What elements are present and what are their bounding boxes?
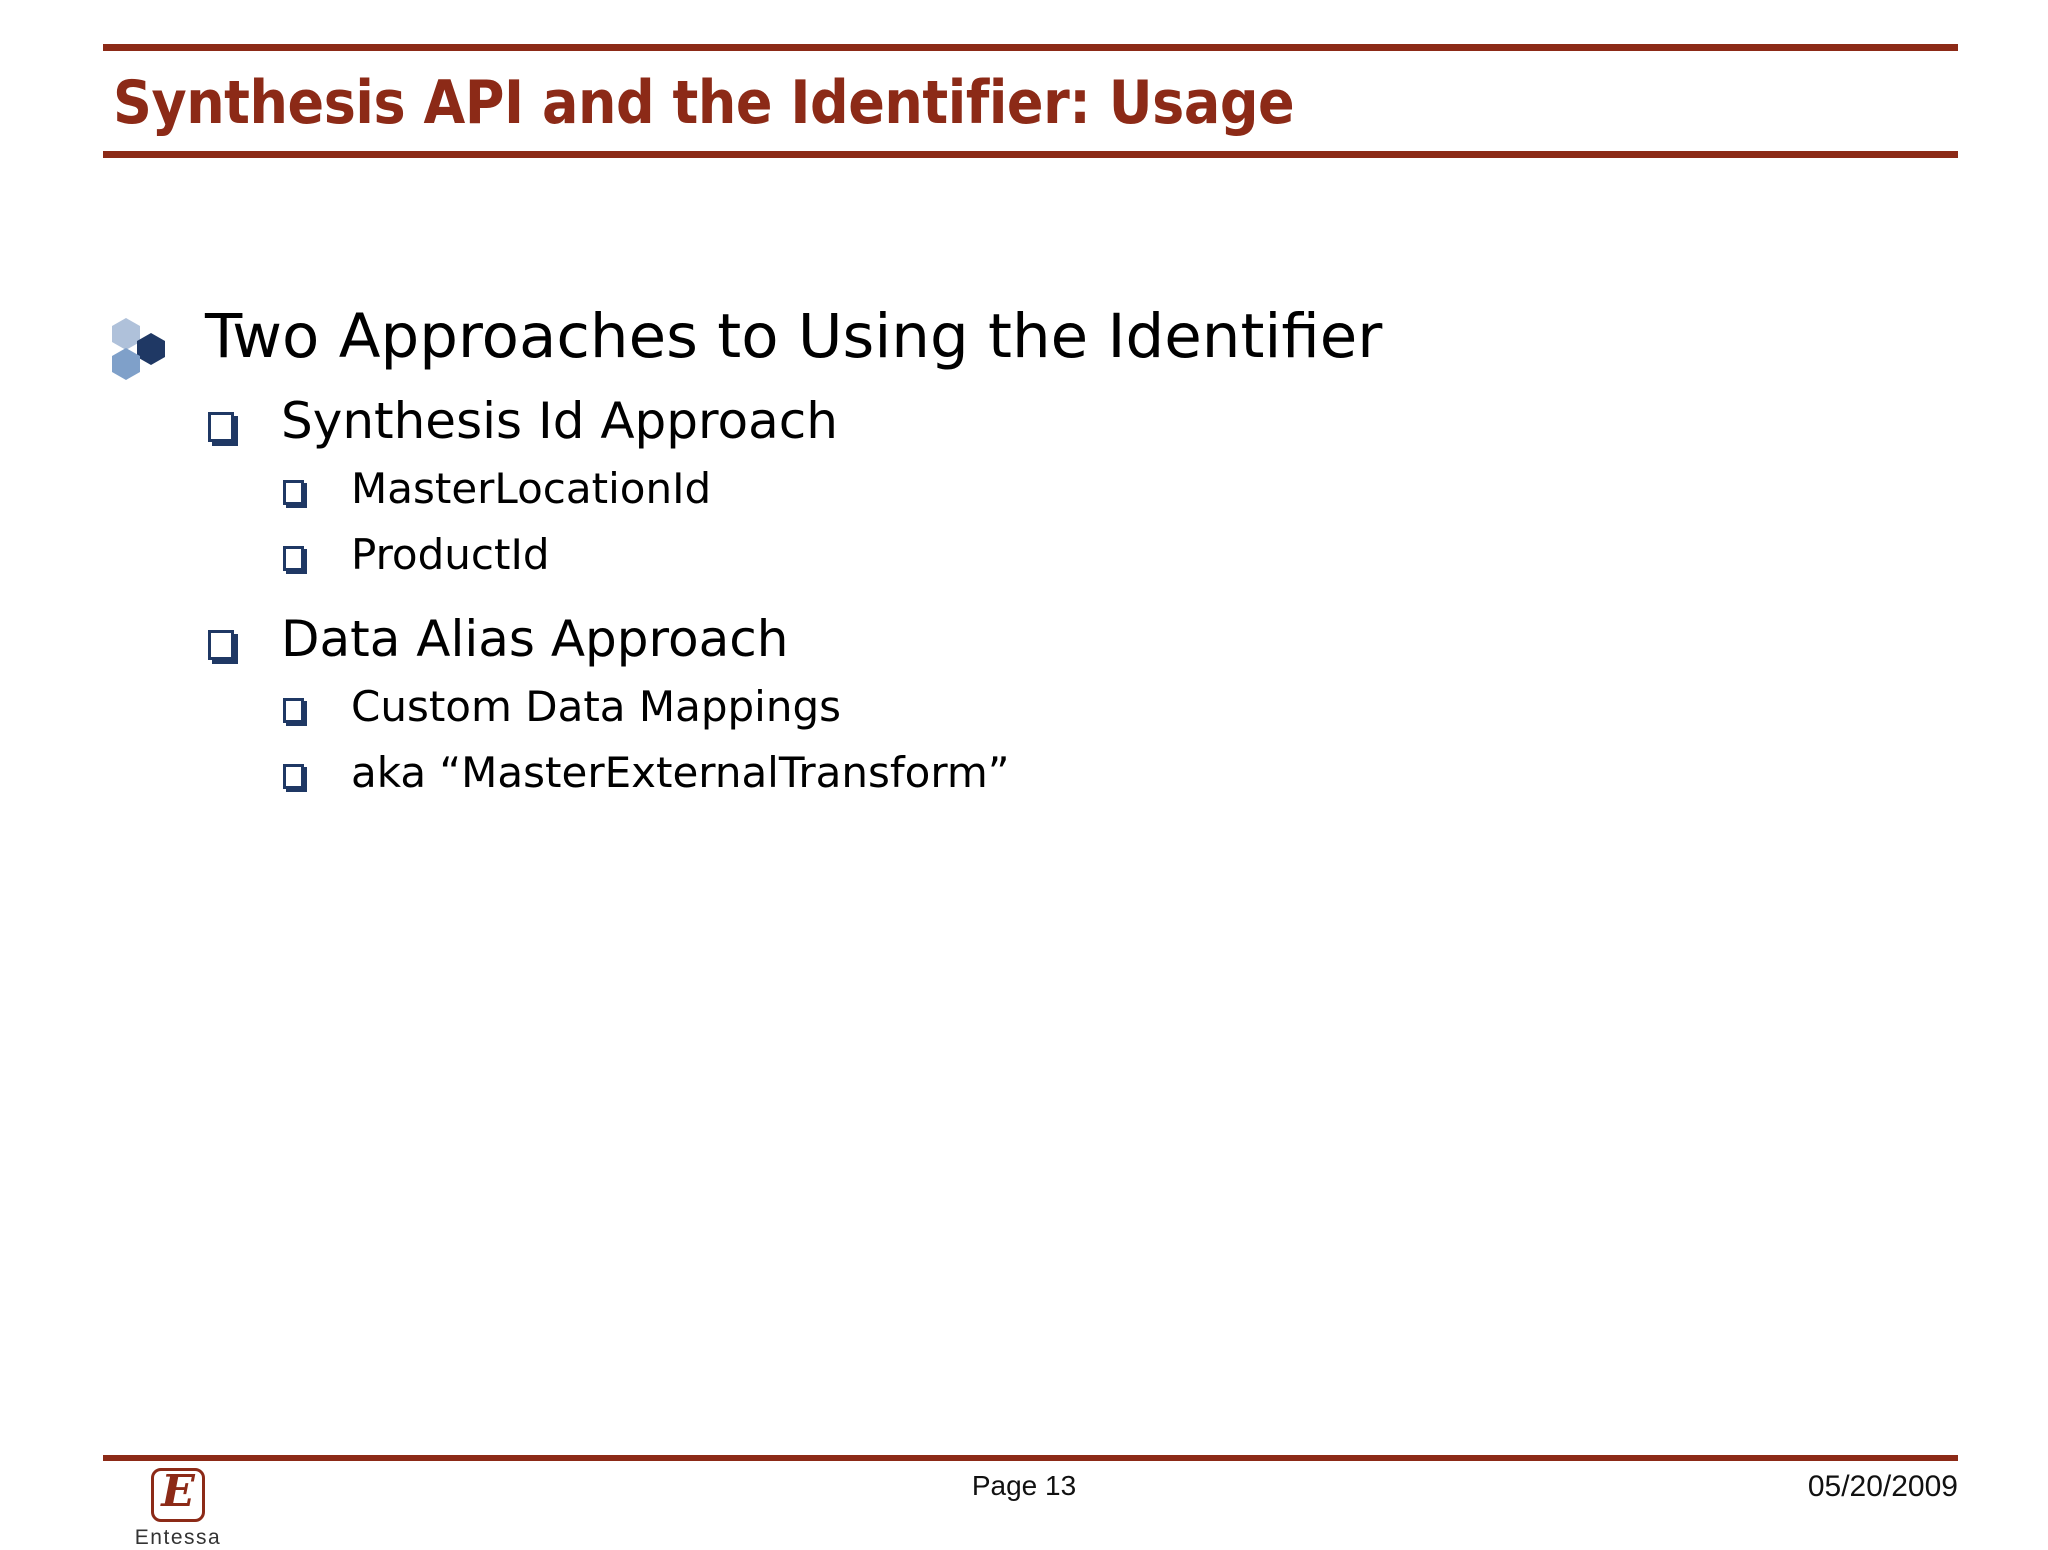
bullet-level3-label: ProductId bbox=[351, 528, 550, 582]
bullet-level3-productid: ProductId bbox=[0, 528, 2048, 582]
title-rule-top bbox=[103, 44, 1958, 51]
slide-body: Two Approaches to Using the Identifier S… bbox=[0, 300, 2048, 812]
hollow-square-bullet-icon bbox=[283, 698, 304, 723]
bullet-level2-label: Data Alias Approach bbox=[281, 608, 788, 670]
entessa-logo-glyph: E bbox=[154, 1468, 202, 1519]
slide-date: 05/20/2009 bbox=[1808, 1470, 1958, 1504]
bullet-level3-label: MasterLocationId bbox=[351, 462, 711, 516]
hollow-square-bullet-icon bbox=[208, 630, 234, 660]
entessa-logo-label: Entessa bbox=[103, 1526, 253, 1550]
footer-rule bbox=[103, 1455, 1958, 1461]
bullet-level3-label: aka “MasterExternalTransform” bbox=[351, 746, 1010, 800]
title-rule-bottom bbox=[103, 151, 1958, 158]
hexagon-cluster-bullet-icon bbox=[112, 314, 166, 374]
hollow-square-bullet-icon bbox=[283, 480, 304, 505]
hollow-square-bullet-icon bbox=[283, 546, 304, 571]
hollow-square-bullet-icon bbox=[208, 412, 234, 442]
bullet-level3-master-external-transform: aka “MasterExternalTransform” bbox=[0, 746, 2048, 800]
bullet-level2-data-alias-approach: Data Alias Approach bbox=[0, 608, 2048, 670]
page-number: Page 13 bbox=[824, 1470, 1224, 1502]
entessa-logo-icon: E bbox=[151, 1468, 205, 1522]
bullet-level3-label: Custom Data Mappings bbox=[351, 680, 841, 734]
bullet-level3-masterlocationid: MasterLocationId bbox=[0, 462, 2048, 516]
bullet-level1: Two Approaches to Using the Identifier bbox=[0, 300, 2048, 374]
hollow-square-bullet-icon bbox=[283, 764, 304, 789]
bullet-level3-custom-data-mappings: Custom Data Mappings bbox=[0, 680, 2048, 734]
bullet-level2-label: Synthesis Id Approach bbox=[281, 390, 838, 452]
bullet-level2-synthesis-id-approach: Synthesis Id Approach bbox=[0, 390, 2048, 452]
page-title: Synthesis API and the Identifier: Usage bbox=[113, 62, 1733, 144]
slide-canvas: Synthesis API and the Identifier: Usage … bbox=[0, 0, 2048, 1536]
bullet-level1-label: Two Approaches to Using the Identifier bbox=[205, 300, 1382, 374]
entessa-logo: E Entessa bbox=[103, 1468, 253, 1550]
